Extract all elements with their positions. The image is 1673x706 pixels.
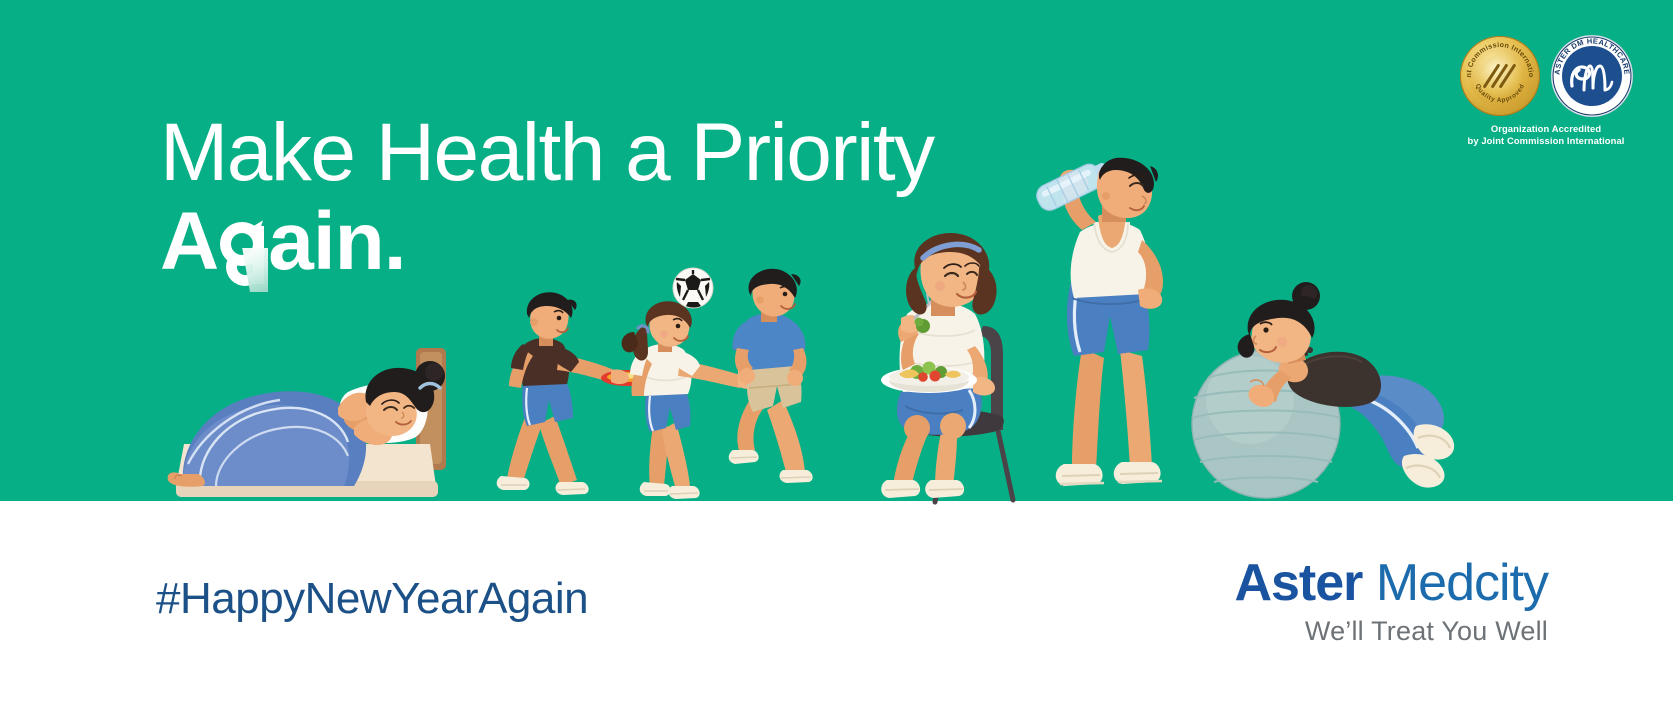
jci-seal-ring-text: Joint Commission International Quality A… [1460,36,1540,116]
hashtag-text: #HappyNewYearAgain [156,574,588,624]
accreditation-badges: Joint Commission International Quality A… [1444,36,1648,116]
headline-line-2-a: A [160,196,218,287]
dm-monogram-icon [1562,46,1622,106]
headline-line-2-ain: ain. [268,196,405,287]
headline-line-2: A ain. [160,196,934,288]
jci-ring-bottom-textpath: Quality Approved [1474,83,1527,104]
jci-ring-top-textpath: Joint Commission International [1458,29,1536,78]
logo-tagline: We’ll Treat You Well [1228,616,1548,647]
aster-medcity-logo: Aster Medcity We’ll Treat You Well [1228,556,1548,647]
accreditation-block: Joint Commission International Quality A… [1444,36,1648,147]
jci-ring-top-label: Joint Commission International [1458,29,1536,78]
headline: Make Health a Priority A ain. [160,110,934,288]
logo-brand-bold: Aster [1234,554,1362,612]
jci-ring-bottom-label: Quality Approved [1474,83,1527,104]
logo-wordmark: Aster Medcity [1228,556,1548,610]
accreditation-caption-line-1: Organization Accredited [1444,123,1648,135]
jci-gold-seal-icon: Joint Commission International Quality A… [1460,36,1540,116]
accreditation-caption: Organization Accredited by Joint Commiss… [1444,123,1648,147]
aster-dm-healthcare-seal-icon: ASTER DM HEALTHCARE SINCE 1987 [1552,36,1632,116]
headline-line-1: Make Health a Priority [160,110,934,196]
accreditation-caption-line-2: by Joint Commission International [1444,135,1648,147]
refresh-g-icon [218,196,268,288]
dm-seal-core [1562,46,1622,106]
logo-brand-light: Medcity [1362,554,1548,612]
banner-root: Make Health a Priority A ain. #HappyNewY… [0,0,1673,706]
